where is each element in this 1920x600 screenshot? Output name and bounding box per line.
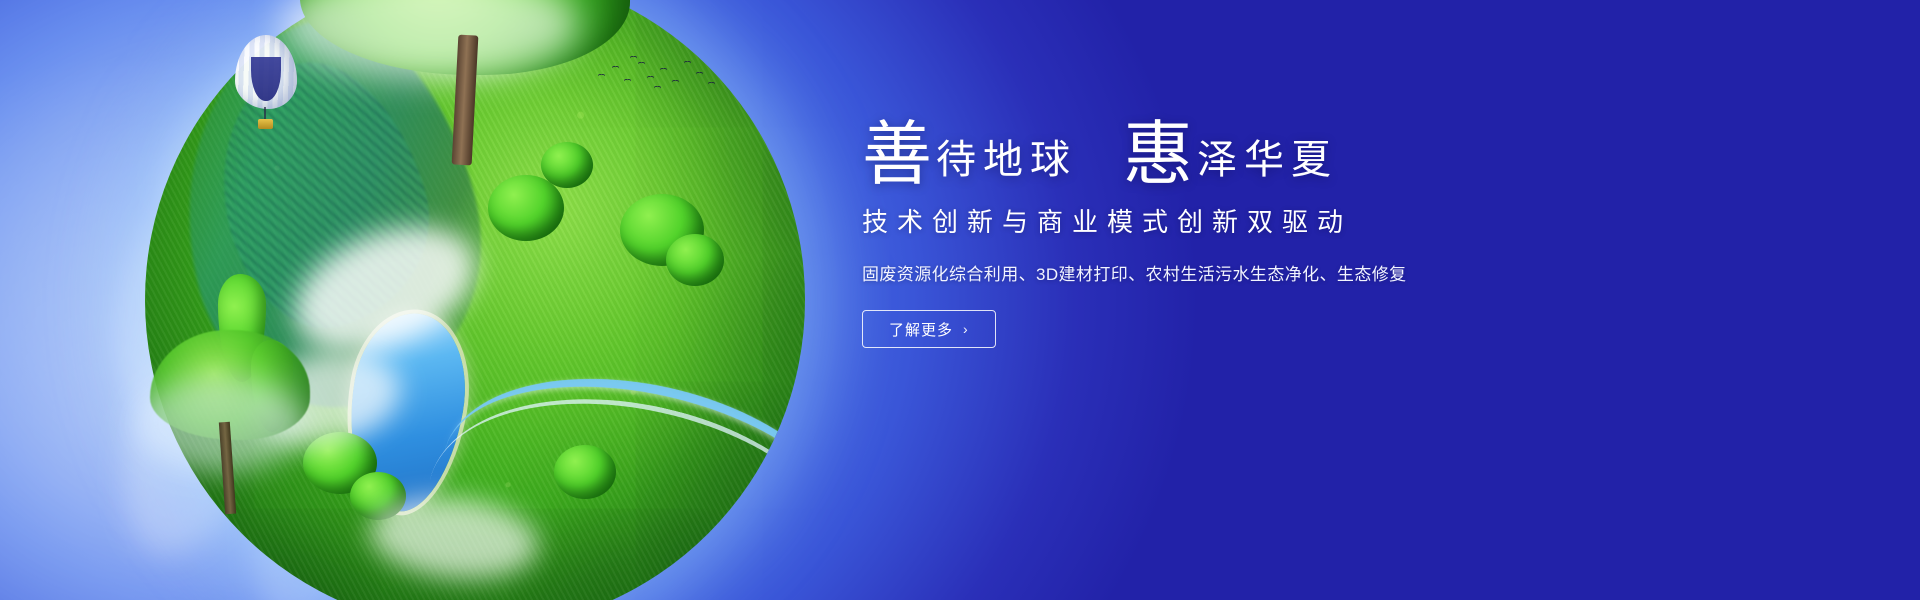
tree-canopy bbox=[554, 445, 616, 499]
bird-icon bbox=[638, 62, 645, 66]
bird-icon bbox=[612, 66, 619, 70]
tree-canopy bbox=[666, 234, 724, 286]
headline-rest-2: 泽华夏 bbox=[1197, 140, 1338, 189]
bird-icon bbox=[624, 79, 631, 83]
bird-icon bbox=[598, 74, 605, 78]
bird-flock-icon bbox=[592, 52, 722, 94]
bird-icon bbox=[672, 80, 679, 84]
big-tree bbox=[300, 0, 630, 145]
hero-subtitle: 技术创新与商业模式创新双驱动 bbox=[862, 207, 1562, 238]
bird-icon bbox=[708, 82, 715, 86]
learn-more-label: 了解更多 bbox=[889, 319, 953, 340]
hot-air-balloon-icon bbox=[235, 35, 297, 131]
bird-icon bbox=[654, 86, 661, 90]
hero-content: 善 待地球 惠 泽华夏 技术创新与商业模式创新双驱动 固废资源化综合利用、3D建… bbox=[862, 122, 1562, 348]
page-title: 善 待地球 惠 泽华夏 bbox=[862, 122, 1562, 189]
tree-canopy bbox=[541, 142, 593, 188]
bird-icon bbox=[630, 56, 637, 60]
headline-char-2: 惠 bbox=[1123, 122, 1193, 189]
balloon-basket bbox=[258, 119, 273, 129]
hero-description: 固废资源化综合利用、3D建材打印、农村生活污水生态净化、生态修复 bbox=[862, 260, 1562, 285]
small-tree bbox=[150, 330, 310, 520]
bird-icon bbox=[660, 68, 667, 72]
hero-banner: 善 待地球 惠 泽华夏 技术创新与商业模式创新双驱动 固废资源化综合利用、3D建… bbox=[0, 0, 1920, 600]
bird-icon bbox=[684, 61, 691, 65]
learn-more-button[interactable]: 了解更多 › bbox=[862, 310, 996, 348]
bird-icon bbox=[696, 72, 703, 76]
headline-rest-1: 待地球 bbox=[936, 140, 1077, 189]
bird-icon bbox=[647, 76, 654, 80]
headline-char-1: 善 bbox=[862, 122, 932, 189]
chevron-right-icon: › bbox=[963, 321, 969, 337]
